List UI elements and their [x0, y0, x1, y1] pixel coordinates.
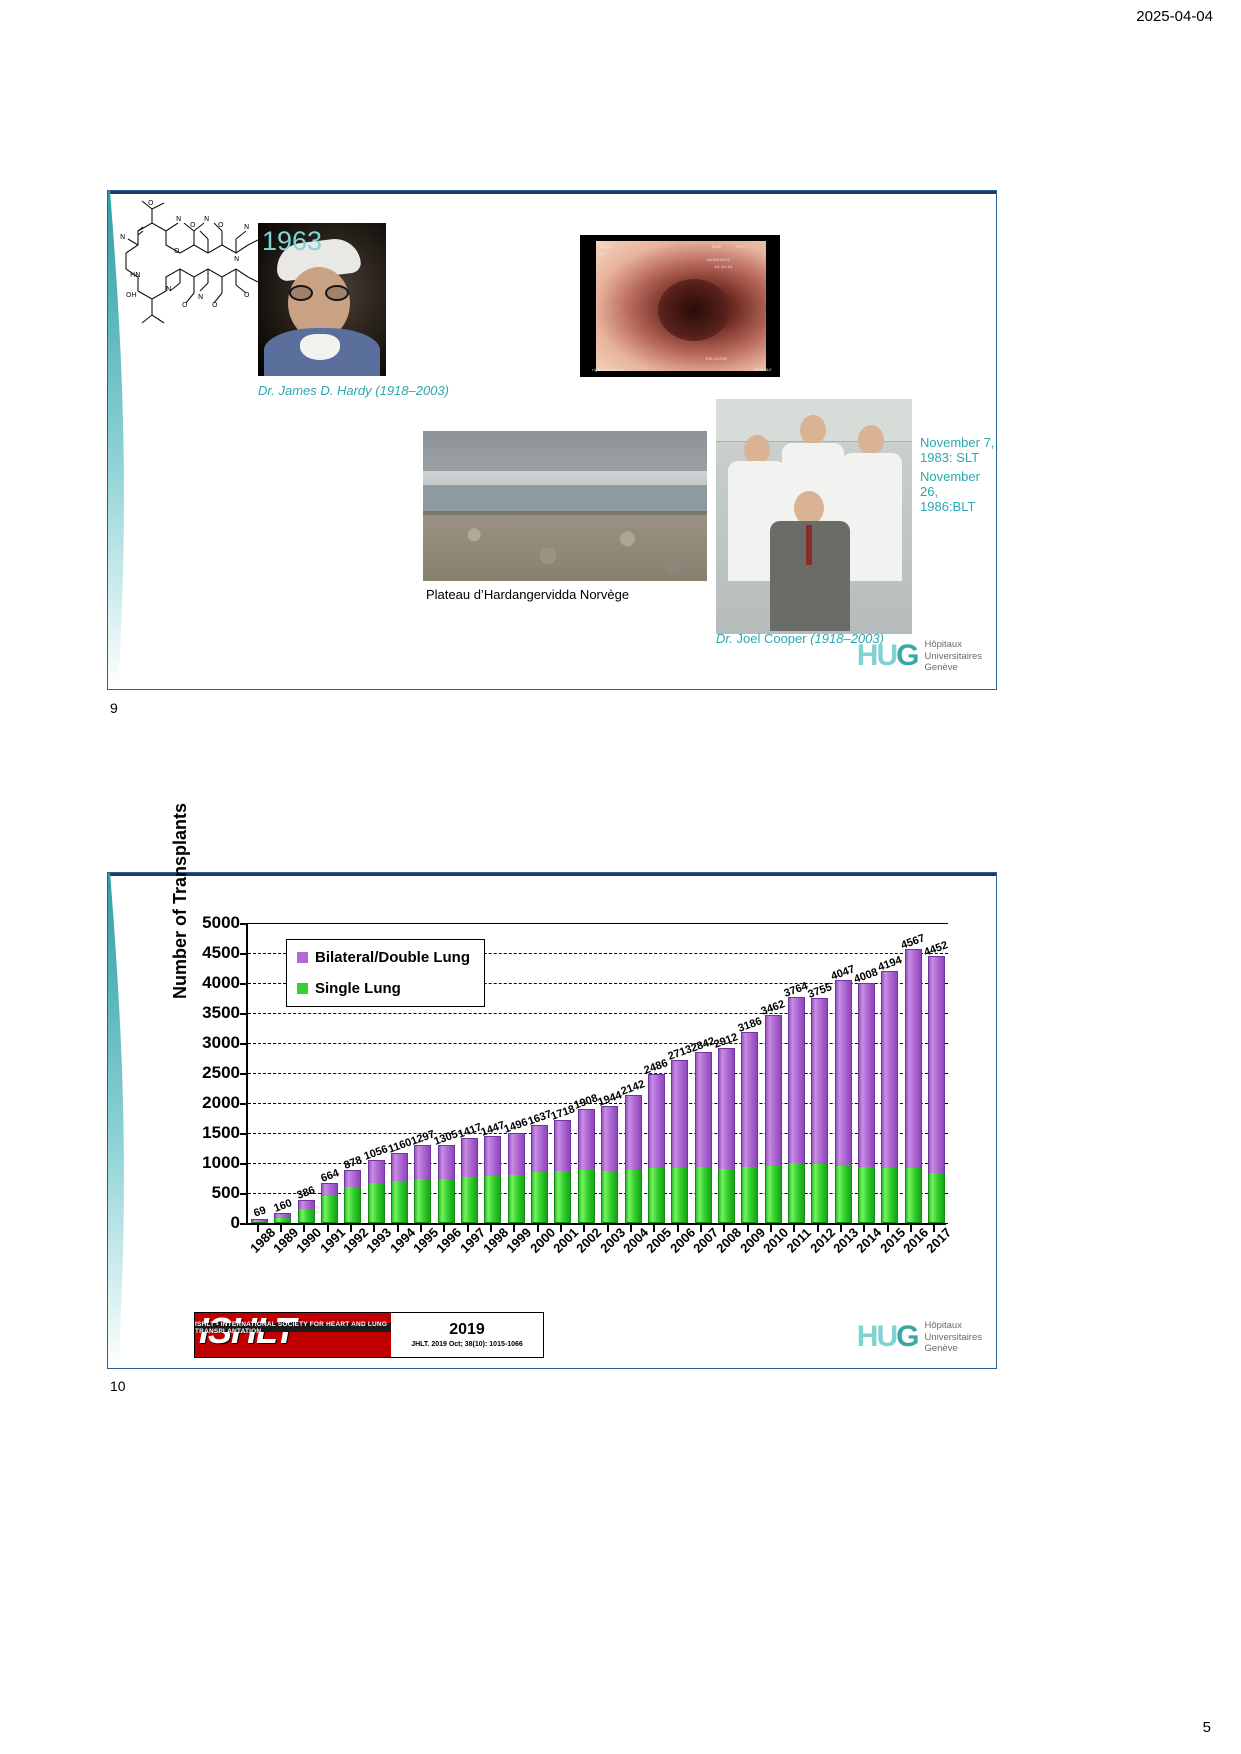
hug-wordmark-2: HUG	[857, 1322, 918, 1352]
y-tick-label-0: 0	[231, 1213, 240, 1233]
bar-segment-single	[741, 1167, 758, 1223]
y-tick-mark-3000	[240, 1043, 248, 1045]
caption-plateau: Plateau d’Hardangervidda Norvège	[426, 587, 629, 602]
bar-segment-single	[811, 1164, 828, 1223]
bar-segment-single	[321, 1196, 338, 1223]
hug-letter-g: G	[896, 639, 917, 672]
hug-subtitle-2: Hôpitaux Universitaires Genève	[924, 1320, 982, 1354]
bar-segment-single	[554, 1171, 571, 1223]
year-overlay: 1963	[262, 226, 322, 257]
hug-line-3b: Genève	[924, 1343, 982, 1354]
legend-label-single: Single Lung	[315, 980, 401, 997]
lake-shape	[423, 485, 707, 511]
chart-bar[interactable]: 1944	[601, 1106, 618, 1223]
svg-text:N: N	[234, 255, 239, 263]
y-tick-mark-4500	[240, 953, 248, 955]
necktie-shape	[806, 525, 812, 565]
bar-segment-single	[368, 1183, 385, 1223]
bar-segment-single	[391, 1181, 408, 1223]
hug-line-3: Genève	[924, 662, 982, 673]
chart-bar[interactable]: 3755	[811, 998, 828, 1223]
chart-bar[interactable]: 1718	[554, 1120, 571, 1223]
snow-band-shape	[423, 471, 707, 485]
bar-segment-bilateral	[391, 1153, 408, 1181]
chart-bar[interactable]: 1160	[391, 1153, 408, 1223]
chart-bar[interactable]: 1908	[578, 1109, 595, 1223]
bar-segment-single	[625, 1170, 642, 1223]
bar-segment-bilateral	[648, 1074, 665, 1169]
chart-bar[interactable]: 2486	[648, 1074, 665, 1223]
osd-model-label: EB-1570K	[706, 356, 727, 361]
airway-lumen-shape	[596, 241, 766, 371]
bar-segment-bilateral	[484, 1136, 501, 1176]
bar-segment-bilateral	[461, 1138, 478, 1177]
y-tick-label-1500: 1500	[202, 1123, 240, 1143]
svg-text:N: N	[198, 293, 203, 301]
chart-bar[interactable]: 4567	[905, 949, 922, 1223]
slide-10: Number of Transplants 050010001500200025…	[107, 872, 997, 1369]
photo-hardangervidda-plateau	[423, 431, 707, 581]
bar-segment-single	[344, 1187, 361, 1223]
bar-segment-bilateral	[741, 1032, 758, 1167]
svg-text:O: O	[182, 301, 188, 309]
hug-letter-g-2: G	[896, 1320, 917, 1353]
y-tick-mark-3500	[240, 1013, 248, 1015]
osd-corner-label: right bronchus	[592, 367, 623, 372]
svg-text:O: O	[190, 221, 196, 229]
bar-segment-bilateral	[718, 1048, 735, 1169]
osd-brand-label: PENTAX	[754, 367, 772, 372]
bar-segment-bilateral	[438, 1145, 455, 1180]
svg-text:O: O	[218, 221, 224, 229]
bar-value-label: 2142	[619, 1078, 646, 1098]
bar-segment-single	[671, 1168, 688, 1223]
ishlt-year: 2019	[449, 1322, 485, 1338]
chart-bar[interactable]: 386	[298, 1200, 315, 1223]
bar-segment-bilateral	[835, 980, 852, 1166]
bar-segment-single	[695, 1167, 712, 1223]
chart-bar[interactable]: 2713	[671, 1060, 688, 1223]
ishlt-citation-block: 2019 JHLT. 2019 Oct; 38(10): 1015-1066	[391, 1313, 543, 1357]
bar-segment-single	[928, 1173, 945, 1223]
bar-segment-single	[298, 1209, 315, 1223]
bar-segment-single	[461, 1177, 478, 1223]
ishlt-citation: JHLT. 2019 Oct; 38(10): 1015-1066	[411, 1341, 523, 1348]
hug-wordmark: HUG	[857, 641, 918, 671]
bar-segment-bilateral	[881, 971, 898, 1167]
hug-logo-slide9: HUG Hôpitaux Universitaires Genève	[857, 639, 982, 673]
chart-container: Number of Transplants 050010001500200025…	[148, 889, 986, 1364]
rocky-foreground-shape	[423, 515, 707, 581]
bar-segment-single	[718, 1169, 735, 1223]
glasses-icon	[288, 285, 350, 301]
surgical-mask-shape	[300, 334, 340, 360]
bar-segment-single	[648, 1168, 665, 1223]
y-tick-mark-5000	[240, 923, 248, 925]
slide-top-rule	[108, 191, 996, 194]
chart-bar[interactable]: 1305	[438, 1145, 455, 1223]
bar-segment-bilateral	[368, 1160, 385, 1184]
bar-segment-bilateral	[811, 998, 828, 1164]
bar-segment-bilateral	[414, 1145, 431, 1178]
svg-text:N: N	[176, 215, 181, 223]
person-head-2	[800, 415, 826, 445]
photo-bronchoscopy: NAME ID AGE SEX 18/09/2012 16:49:24 EB-1…	[580, 235, 780, 377]
y-tick-label-4500: 4500	[202, 943, 240, 963]
bronchus-opening-shape	[658, 279, 730, 341]
hug-line-1b: Hôpitaux	[924, 1320, 982, 1331]
bar-segment-bilateral	[858, 983, 875, 1167]
hug-letter-u-2: U	[876, 1320, 896, 1353]
hug-letter-h: H	[857, 639, 877, 672]
chart-bar[interactable]: 160	[274, 1213, 291, 1223]
person-labcoat-3	[842, 453, 902, 581]
chart-bar[interactable]: 1496	[508, 1133, 525, 1223]
slide-top-rule-2	[108, 873, 996, 876]
chart-bar[interactable]: 1417	[461, 1138, 478, 1223]
chart-bar[interactable]: 3186	[741, 1032, 758, 1223]
y-tick-mark-2500	[240, 1073, 248, 1075]
y-tick-label-2000: 2000	[202, 1093, 240, 1113]
bar-segment-single	[508, 1175, 525, 1223]
chart-bar[interactable]: 4452	[928, 956, 945, 1223]
slide-10-number: 10	[110, 1378, 126, 1394]
bar-segment-bilateral	[508, 1133, 525, 1175]
chart-bar[interactable]: 2142	[625, 1095, 642, 1224]
note-first-slt: November 7, 1983: SLT	[920, 435, 996, 465]
chart-legend: Bilateral/Double LungSingle Lung	[286, 939, 485, 1007]
chart-bar[interactable]: 1447	[484, 1136, 501, 1223]
svg-text:O: O	[148, 199, 154, 207]
osd-date-label: 18/09/2012	[706, 257, 730, 262]
svg-text:N: N	[244, 223, 249, 231]
bar-segment-bilateral	[765, 1015, 782, 1166]
chart-plot-area: 0500100015002000250030003500400045005000…	[246, 923, 948, 1223]
osd-age-label: AGE	[712, 244, 722, 249]
chart-bar[interactable]: 878	[344, 1170, 361, 1223]
note-first-blt: November 26, 1986:BLT	[920, 469, 996, 514]
y-tick-label-2500: 2500	[202, 1063, 240, 1083]
svg-text:O: O	[174, 247, 180, 255]
chart-y-axis-label: Number of Transplants	[170, 803, 191, 999]
chart-bar[interactable]: 1297	[414, 1145, 431, 1223]
bar-segment-bilateral	[695, 1052, 712, 1167]
legend-item-2: Single Lung	[297, 980, 470, 997]
chart-bar[interactable]: 4194	[881, 971, 898, 1223]
y-tick-mark-1000	[240, 1163, 248, 1165]
bar-segment-single	[788, 1163, 805, 1223]
chart-bar[interactable]: 2912	[718, 1048, 735, 1223]
bar-segment-bilateral	[554, 1120, 571, 1171]
page-number: 5	[1203, 1719, 1211, 1736]
person-head-3	[858, 425, 884, 455]
legend-item-1: Bilateral/Double Lung	[297, 949, 470, 966]
y-tick-mark-1500	[240, 1133, 248, 1135]
y-tick-mark-500	[240, 1193, 248, 1195]
page-date: 2025-04-04	[1136, 8, 1213, 25]
svg-text:O: O	[244, 291, 250, 299]
y-tick-label-500: 500	[212, 1183, 240, 1203]
bar-segment-single	[578, 1170, 595, 1223]
legend-swatch-bilateral	[297, 952, 308, 963]
y-tick-mark-2000	[240, 1103, 248, 1105]
bar-segment-single	[601, 1171, 618, 1224]
bar-segment-bilateral	[788, 997, 805, 1163]
svg-text:N: N	[204, 215, 209, 223]
photo-dr-cooper-team	[716, 399, 912, 634]
hug-letter-u: U	[876, 639, 896, 672]
chart-bar[interactable]: 3462	[765, 1015, 782, 1223]
y-tick-mark-4000	[240, 983, 248, 985]
bar-segment-bilateral	[905, 949, 922, 1168]
bar-segment-bilateral	[625, 1095, 642, 1170]
chart-bar[interactable]: 2842	[695, 1052, 712, 1223]
ishlt-badge: ISHLT ISHLT • INTERNATIONAL SOCIETY FOR …	[194, 1312, 544, 1358]
bar-segment-bilateral	[928, 956, 945, 1173]
legend-label-bilateral: Bilateral/Double Lung	[315, 949, 470, 966]
slide-9-number: 9	[110, 700, 118, 716]
bar-segment-single	[531, 1172, 548, 1223]
slide-accent-swoosh-2	[108, 873, 142, 1368]
slide-accent-swoosh	[108, 191, 142, 689]
ishlt-society-strip: ISHLT • INTERNATIONAL SOCIETY FOR HEART …	[195, 1323, 391, 1332]
bar-segment-bilateral	[531, 1125, 548, 1172]
osd-time-label: 16:49:24	[714, 264, 733, 269]
hug-line-2b: Universitaires	[924, 1332, 982, 1343]
chart-bar[interactable]: 664	[321, 1183, 338, 1223]
y-tick-label-5000: 5000	[202, 913, 240, 933]
bar-segment-single	[905, 1168, 922, 1224]
bar-segment-single	[438, 1179, 455, 1223]
caption-cooper-prefix: Dr.	[716, 631, 733, 646]
chart-bar[interactable]: 4008	[858, 983, 875, 1223]
hug-line-1: Hôpitaux	[924, 639, 982, 650]
y-tick-label-4000: 4000	[202, 973, 240, 993]
svg-text:N: N	[166, 285, 171, 293]
osd-id-label: ID	[600, 251, 605, 256]
bar-segment-bilateral	[344, 1170, 361, 1187]
bar-value-label: 69	[252, 1204, 268, 1219]
chart-bar[interactable]: 1637	[531, 1125, 548, 1223]
caption-dr-hardy: Dr. James D. Hardy (1918–2003)	[258, 383, 449, 398]
y-tick-label-3500: 3500	[202, 1003, 240, 1023]
osd-sex-label: SEX	[736, 244, 745, 249]
bar-segment-single	[414, 1179, 431, 1223]
caption-cooper-name: Joel Cooper	[736, 631, 806, 646]
bar-segment-single	[858, 1167, 875, 1223]
legend-swatch-single	[297, 983, 308, 994]
bar-segment-bilateral	[601, 1106, 618, 1170]
hug-letter-h-2: H	[857, 1320, 877, 1353]
photo-dr-hardy: 1963	[258, 223, 386, 376]
hug-line-2: Universitaires	[924, 651, 982, 662]
svg-text:O: O	[212, 301, 218, 309]
bar-segment-single	[881, 1168, 898, 1223]
bar-segment-bilateral	[578, 1109, 595, 1171]
y-tick-label-3000: 3000	[202, 1033, 240, 1053]
chart-bar[interactable]: 4047	[835, 980, 852, 1223]
osd-name-label: NAME	[600, 244, 613, 249]
slide-9: 1963 Dr. James D. Hardy (1918–2003) NAME…	[107, 190, 997, 690]
hug-subtitle: Hôpitaux Universitaires Genève	[924, 639, 982, 673]
chart-bar[interactable]: 3764	[788, 997, 805, 1223]
bar-segment-bilateral	[671, 1060, 688, 1168]
person-head-cooper	[794, 491, 824, 525]
bar-segment-bilateral	[321, 1183, 338, 1196]
bar-segment-single	[484, 1176, 501, 1223]
chart-bar[interactable]: 1056	[368, 1160, 385, 1223]
bar-segment-single	[765, 1166, 782, 1223]
y-tick-label-1000: 1000	[202, 1153, 240, 1173]
hug-logo-slide10: HUG Hôpitaux Universitaires Genève	[857, 1320, 982, 1354]
bar-segment-single	[835, 1166, 852, 1223]
ishlt-logo-red: ISHLT ISHLT • INTERNATIONAL SOCIETY FOR …	[195, 1313, 391, 1357]
